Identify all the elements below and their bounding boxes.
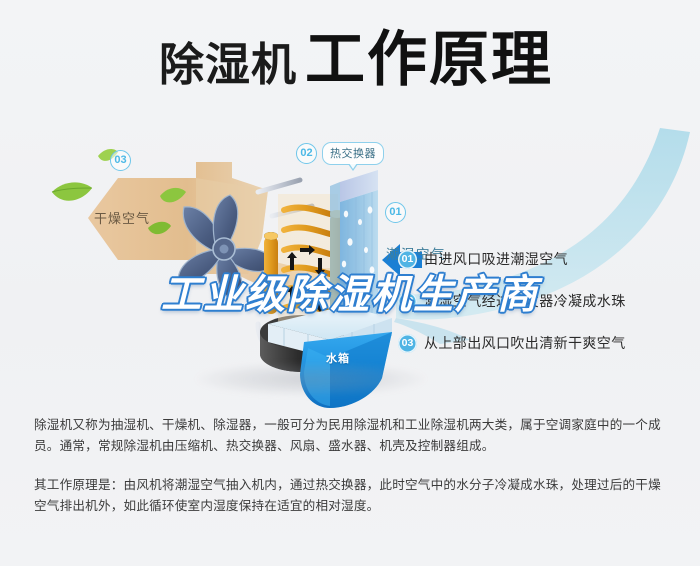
dehumidifier-infographic-page: 除湿机 工作原理 — [0, 0, 700, 566]
step-text: 由进风口吸进潮湿空气 — [424, 249, 568, 269]
heat-exchanger-bubble: 热交换器 — [322, 142, 384, 165]
badge-01: 01 — [385, 202, 406, 223]
paragraph-2: 其工作原理是：由风机将潮湿空气抽入机内，通过热交换器，此时空气中的水分子冷凝成水… — [34, 475, 670, 517]
step-number: 02 — [398, 292, 417, 311]
badge-03: 03 — [110, 150, 131, 171]
step-text: 从上部出风口吹出清新干爽空气 — [424, 333, 626, 353]
title-wrap: 除湿机 工作原理 — [159, 30, 553, 90]
step-text: 潮湿空气经过蒸发器冷凝成水珠 — [424, 291, 626, 311]
title-part-1: 除湿机 — [159, 42, 297, 87]
paragraph-1: 除湿机又称为抽湿机、干燥机、除湿器，一般可分为民用除湿机和工业除湿机两大类，属于… — [34, 415, 670, 457]
dry-air-number: 03 — [110, 150, 131, 171]
dry-air-label: 干燥空气 — [94, 208, 150, 227]
list-item: 03 从上部出风口吹出清新干爽空气 — [398, 332, 698, 354]
step-number: 03 — [398, 334, 417, 353]
title-part-2: 工作原理 — [305, 30, 553, 90]
page-title: 除湿机 工作原理 — [0, 0, 700, 120]
list-item: 02 潮湿空气经过蒸发器冷凝成水珠 — [398, 290, 698, 312]
heat-exchanger-callout: 02 热交换器 — [296, 142, 384, 165]
list-item: 01 由进风口吸进潮湿空气 — [398, 248, 698, 270]
humid-air-number: 01 — [385, 202, 406, 223]
water-tank-label: 水箱 — [326, 350, 350, 366]
process-step-list: 01 由进风口吸进潮湿空气 02 潮湿空气经过蒸发器冷凝成水珠 03 从上部出风… — [398, 248, 698, 374]
badge-02: 02 — [296, 143, 317, 164]
body-copy: 除湿机又称为抽湿机、干燥机、除湿器，一般可分为民用除湿机和工业除湿机两大类，属于… — [34, 415, 670, 517]
step-number: 01 — [398, 250, 417, 269]
